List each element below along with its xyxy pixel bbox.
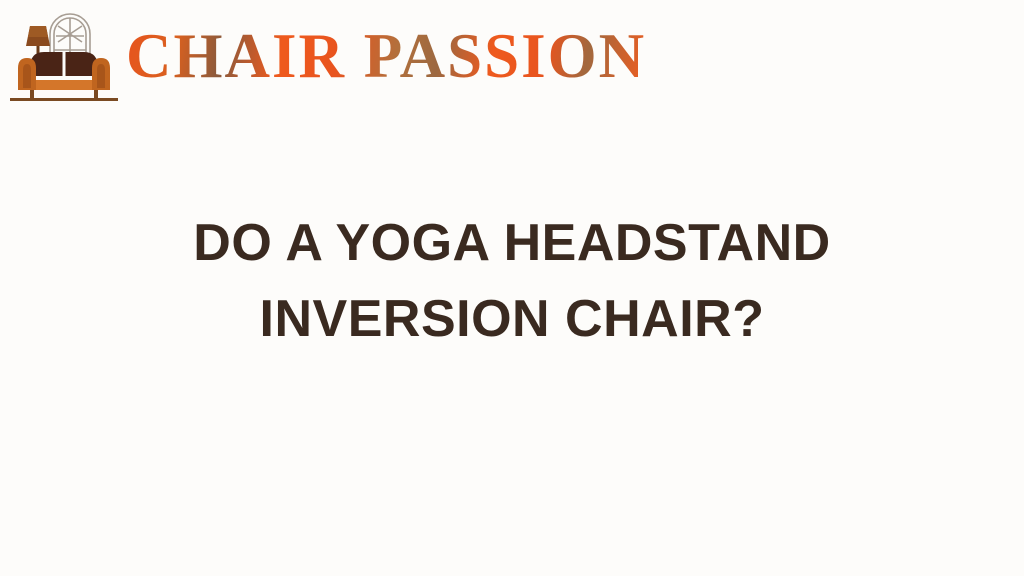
page-title-line-1: DO A YOGA HEADSTAND [0, 205, 1024, 281]
brand-wordmark: CHAIR PASSION [126, 25, 646, 88]
sofa-icon [10, 52, 118, 101]
brand-logo[interactable]: CHAIR PASSION [8, 6, 646, 106]
page-title-line-2: INVERSION CHAIR? [0, 281, 1024, 357]
page-title: DO A YOGA HEADSTAND INVERSION CHAIR? [0, 205, 1024, 357]
sofa-lamp-window-logo-icon [8, 6, 120, 106]
article-header-card: CHAIR PASSION DO A YOGA HEADSTAND INVERS… [0, 0, 1024, 576]
